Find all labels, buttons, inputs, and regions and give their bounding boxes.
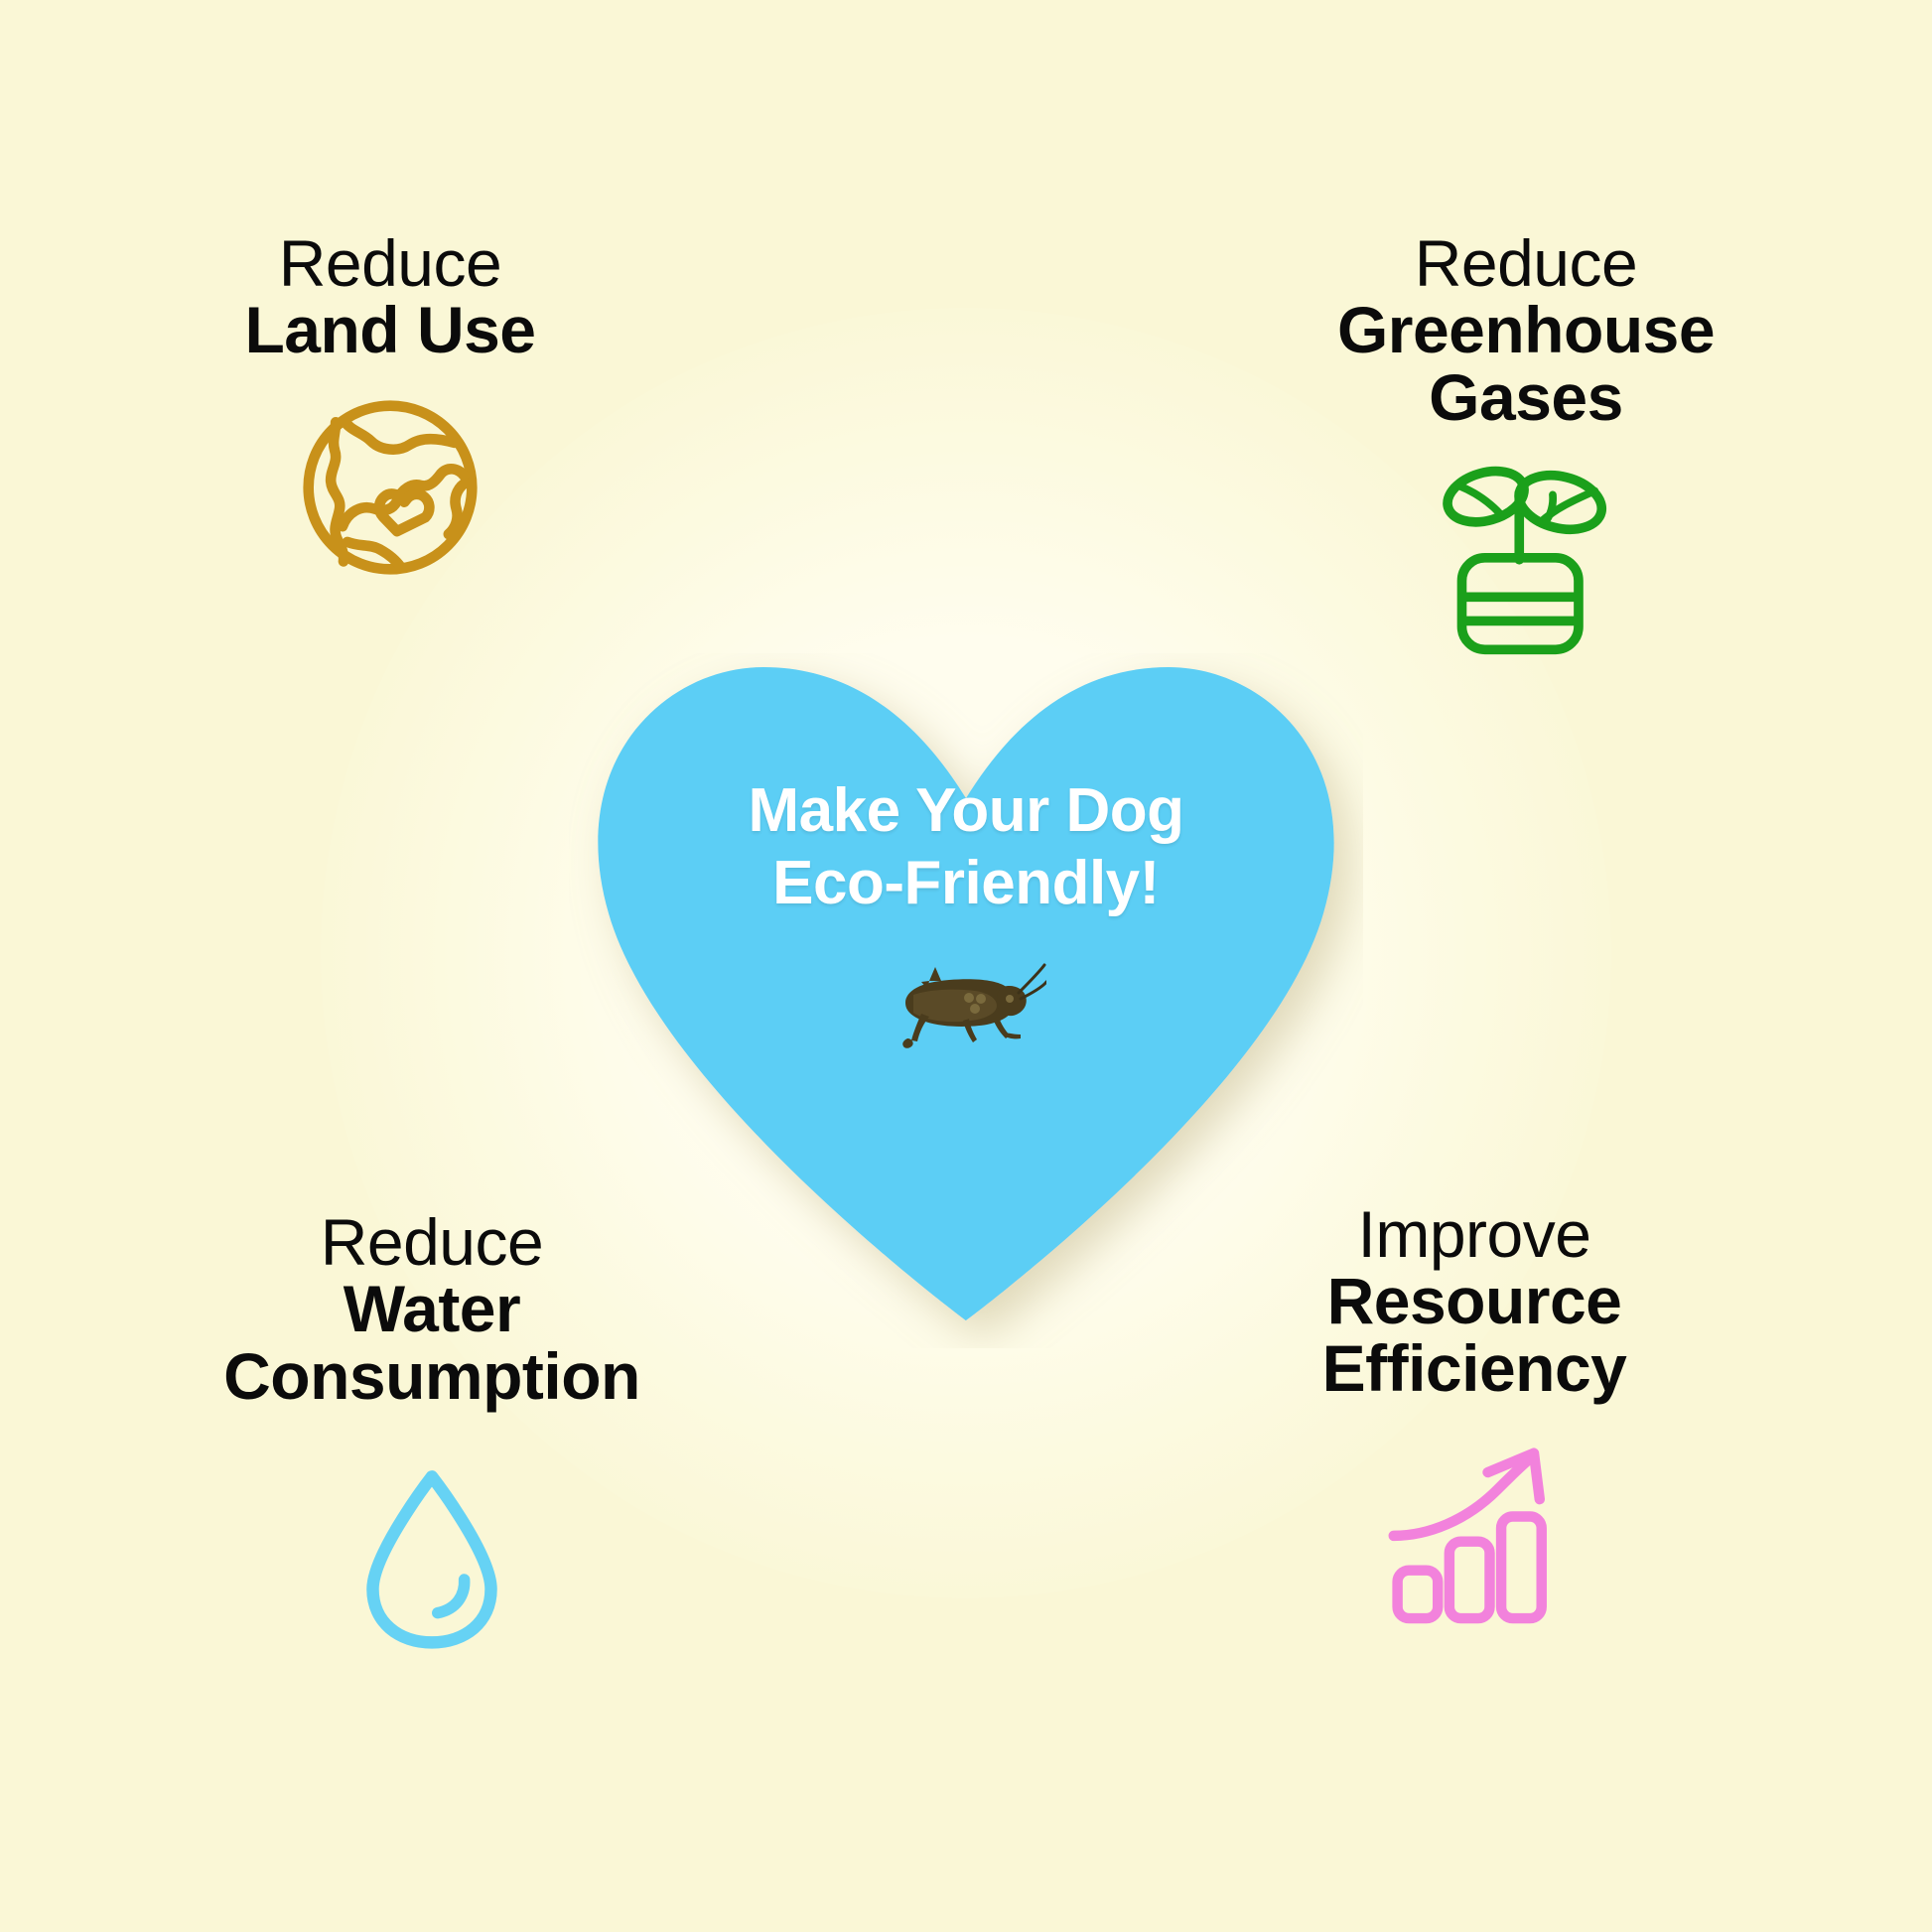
globe-heart-icon-wrap <box>293 390 487 585</box>
benefit-noun-resource-efficiency: Resource Efficiency <box>1322 1268 1627 1402</box>
benefit-noun-land-use: Land Use <box>244 297 535 363</box>
benefit-label-greenhouse-gases: Reduce Greenhouse Gases <box>1337 230 1715 431</box>
cricket-icon <box>878 951 1046 1060</box>
benefit-land-use: Reduce Land Use <box>177 230 604 585</box>
potted-sprout-icon-wrap <box>1434 451 1618 657</box>
growth-chart-icon <box>1386 1440 1563 1624</box>
cricket-icon-wrap <box>878 951 1046 1060</box>
water-droplet-icon-wrap <box>357 1461 506 1652</box>
growth-bar-3 <box>1501 1516 1542 1618</box>
benefit-verb-greenhouse-gases: Reduce <box>1337 230 1715 297</box>
central-heart: Make Your Dog Eco-Friendly! <box>569 653 1363 1348</box>
infographic-canvas: Reduce Land Use <box>0 0 1932 1932</box>
benefit-label-resource-efficiency: Improve Resource Efficiency <box>1322 1201 1627 1402</box>
benefit-label-land-use: Reduce Land Use <box>244 230 535 364</box>
benefit-noun-greenhouse-gases: Greenhouse Gases <box>1337 297 1715 431</box>
growth-bar-1 <box>1398 1571 1439 1618</box>
benefit-verb-resource-efficiency: Improve <box>1322 1201 1627 1268</box>
benefit-greenhouse-gases: Reduce Greenhouse Gases <box>1312 230 1739 657</box>
benefit-verb-land-use: Reduce <box>244 230 535 297</box>
globe-heart-icon <box>293 390 487 585</box>
growth-chart-icon-wrap <box>1386 1440 1563 1624</box>
growth-arrow-curve <box>1394 1456 1532 1535</box>
potted-sprout-icon <box>1434 451 1618 657</box>
water-droplet-icon <box>357 1461 506 1652</box>
growth-bar-2 <box>1449 1542 1490 1618</box>
